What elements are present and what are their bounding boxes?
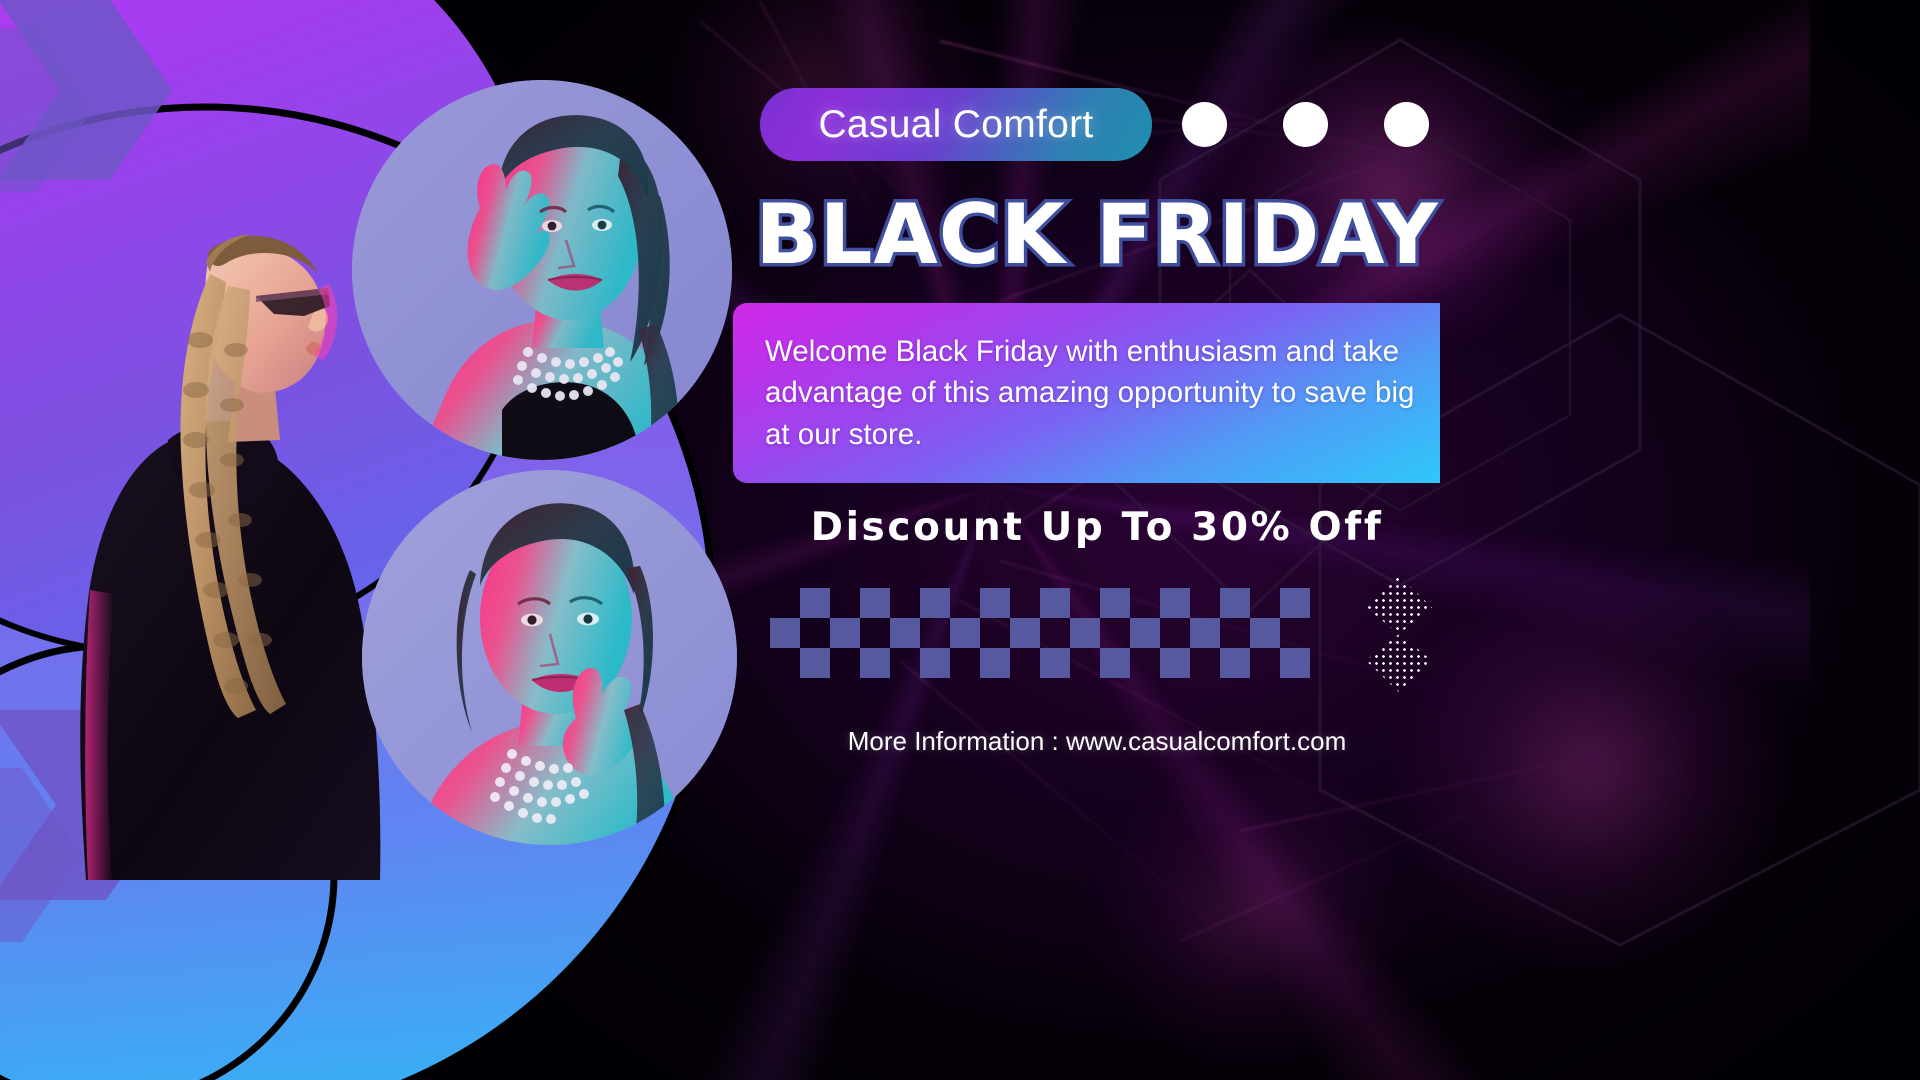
brand-pill[interactable]: Casual Comfort: [760, 88, 1152, 161]
dot-indicator-3[interactable]: [1384, 102, 1429, 147]
checker-pattern-right: [1070, 588, 1310, 678]
portrait-circle-bottom: [362, 470, 737, 845]
pink-glow: [1400, 560, 1780, 980]
discount-headline: Discount Up To 30% Off: [752, 505, 1442, 550]
portrait-circle-top: [352, 80, 732, 460]
checker-pattern-left: [770, 588, 1070, 678]
brand-pill-label: Casual Comfort: [818, 103, 1093, 147]
description-panel: Welcome Black Friday with enthusiasm and…: [733, 303, 1440, 483]
page-title: BLACK FRIDAY: [752, 186, 1442, 283]
dot-indicator-2[interactable]: [1283, 102, 1328, 147]
dot-indicator-1[interactable]: [1182, 102, 1227, 147]
header-dots: [1182, 102, 1429, 147]
description-text: Welcome Black Friday with enthusiasm and…: [733, 331, 1440, 456]
pink-glow: [1090, 760, 1410, 1060]
footer-contact: More Information : www.casualcomfort.com: [752, 726, 1442, 757]
black-friday-banner: Casual Comfort BLACK FRIDAY Welcome Blac…: [0, 0, 1920, 1080]
